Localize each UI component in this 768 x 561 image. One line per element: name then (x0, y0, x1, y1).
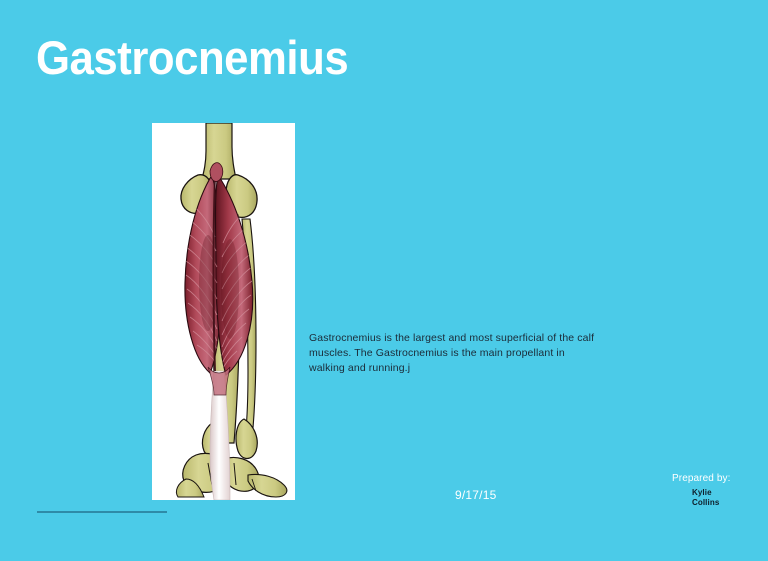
author-last-name: Collins (692, 498, 764, 508)
decorative-rule (37, 511, 167, 513)
date-label: 9/17/15 (455, 488, 496, 502)
author-first-name: Kylie (692, 488, 764, 498)
prepared-by-label: Prepared by: (672, 472, 764, 485)
slide-canvas: Gastrocnemius (0, 0, 768, 561)
gastrocnemius-anatomy-illustration (152, 123, 295, 500)
page-title: Gastrocnemius (36, 33, 348, 82)
body-paragraph: Gastrocnemius is the largest and most su… (309, 331, 599, 376)
prepared-by-block: Prepared by: Kylie Collins (672, 472, 764, 508)
author-name: Kylie Collins (692, 488, 764, 508)
anatomy-image-svg (152, 123, 295, 500)
